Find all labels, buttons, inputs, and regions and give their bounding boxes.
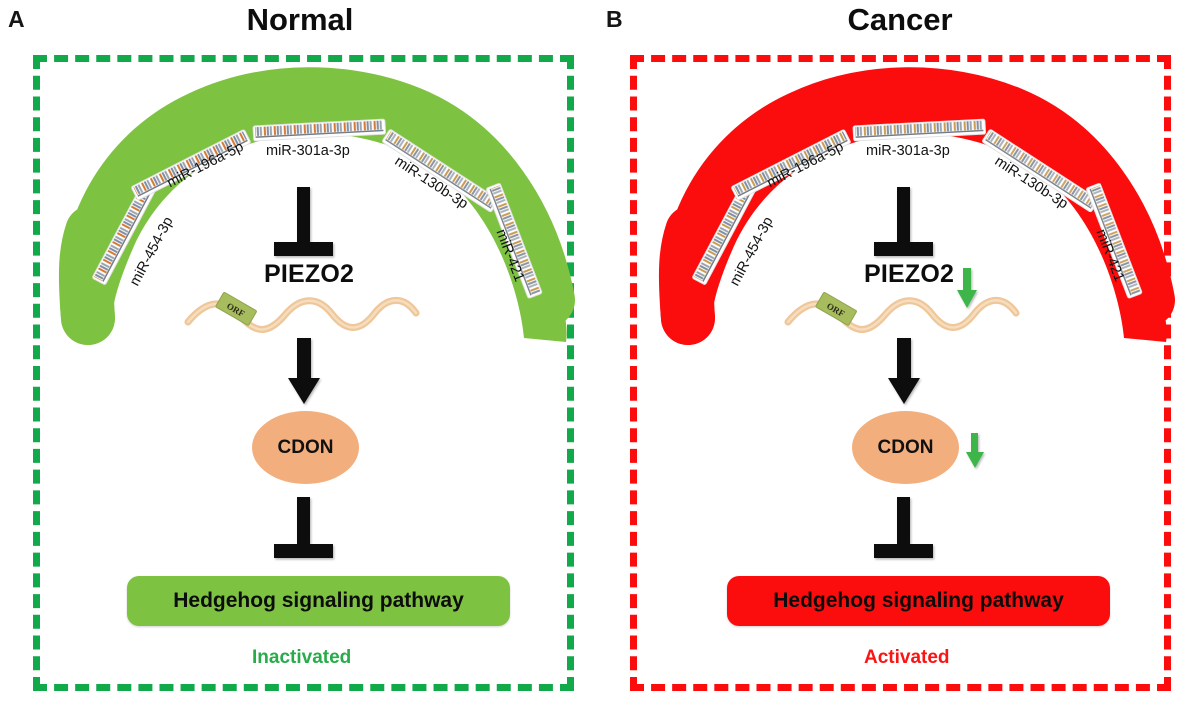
piezo2-mrna-strand-normal: ORF bbox=[188, 292, 416, 330]
inhibition-tbar-hedgehog-normal bbox=[274, 497, 333, 558]
pathway-label-cancer: Hedgehog signaling pathway bbox=[773, 589, 1064, 613]
downregulation-arrow-cdon bbox=[966, 433, 984, 468]
pathway-label-normal: Hedgehog signaling pathway bbox=[173, 589, 464, 613]
mirna-label-mir-301a-3p-normal: miR-301a-3p bbox=[266, 143, 350, 159]
figure-root: A Normal bbox=[0, 0, 1200, 715]
inhibition-tbar-piezo2-cancer bbox=[874, 187, 933, 256]
status-label-cancer: Activated bbox=[864, 647, 950, 669]
pathway-box-cancer: Hedgehog signaling pathway bbox=[727, 576, 1110, 626]
effector-node-cdon-cancer: CDON bbox=[852, 411, 959, 484]
effector-label-cdon-normal: CDON bbox=[278, 437, 334, 459]
inhibition-tbar-hedgehog-cancer bbox=[874, 497, 933, 558]
effector-label-cdon-cancer: CDON bbox=[878, 437, 934, 459]
effector-node-cdon-normal: CDON bbox=[252, 411, 359, 484]
downregulation-arrow-piezo2 bbox=[957, 268, 977, 308]
status-label-normal: Inactivated bbox=[252, 647, 351, 669]
orf-box-cancer: ORF bbox=[816, 292, 857, 326]
inhibition-tbar-piezo2-normal bbox=[274, 187, 333, 256]
gene-label-piezo2-cancer: PIEZO2 bbox=[864, 260, 954, 289]
activation-arrow-cdon-normal bbox=[288, 338, 320, 404]
orf-box-normal: ORF bbox=[216, 292, 257, 326]
piezo2-mrna-strand-cancer: ORF bbox=[788, 292, 1016, 330]
gene-label-piezo2-normal: PIEZO2 bbox=[264, 260, 354, 289]
activation-arrow-cdon-cancer bbox=[888, 338, 920, 404]
pathway-box-normal: Hedgehog signaling pathway bbox=[127, 576, 510, 626]
mirna-label-mir-301a-3p-cancer: miR-301a-3p bbox=[866, 143, 950, 159]
